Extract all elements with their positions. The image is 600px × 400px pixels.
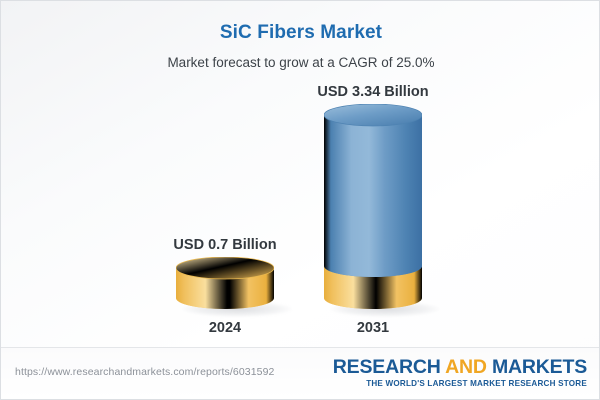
value-label-2024: USD 0.7 Billion	[125, 237, 325, 253]
logo-and-text: AND	[445, 356, 487, 378]
logo-research-text: RESEARCH	[333, 356, 445, 378]
source-url[interactable]: https://www.researchandmarkets.com/repor…	[15, 366, 274, 378]
logo-markets-text: MARKETS	[487, 356, 587, 378]
cylinder-2031[interactable]	[324, 104, 422, 309]
value-label-2031: USD 3.34 Billion	[273, 84, 473, 100]
cylinder-2024[interactable]	[176, 257, 274, 309]
chart-footer: https://www.researchandmarkets.com/repor…	[1, 347, 600, 399]
chart-plot-area: USD 0.7 Billion	[1, 1, 600, 349]
logo-tagline: THE WORLD'S LARGEST MARKET RESEARCH STOR…	[333, 379, 587, 388]
research-and-markets-logo: RESEARCH AND MARKETS THE WORLD'S LARGEST…	[333, 357, 587, 388]
category-label-2031: 2031	[273, 320, 473, 336]
chart-card: SiC Fibers Market Market forecast to gro…	[0, 0, 600, 400]
logo-wordmark: RESEARCH AND MARKETS	[333, 357, 587, 377]
